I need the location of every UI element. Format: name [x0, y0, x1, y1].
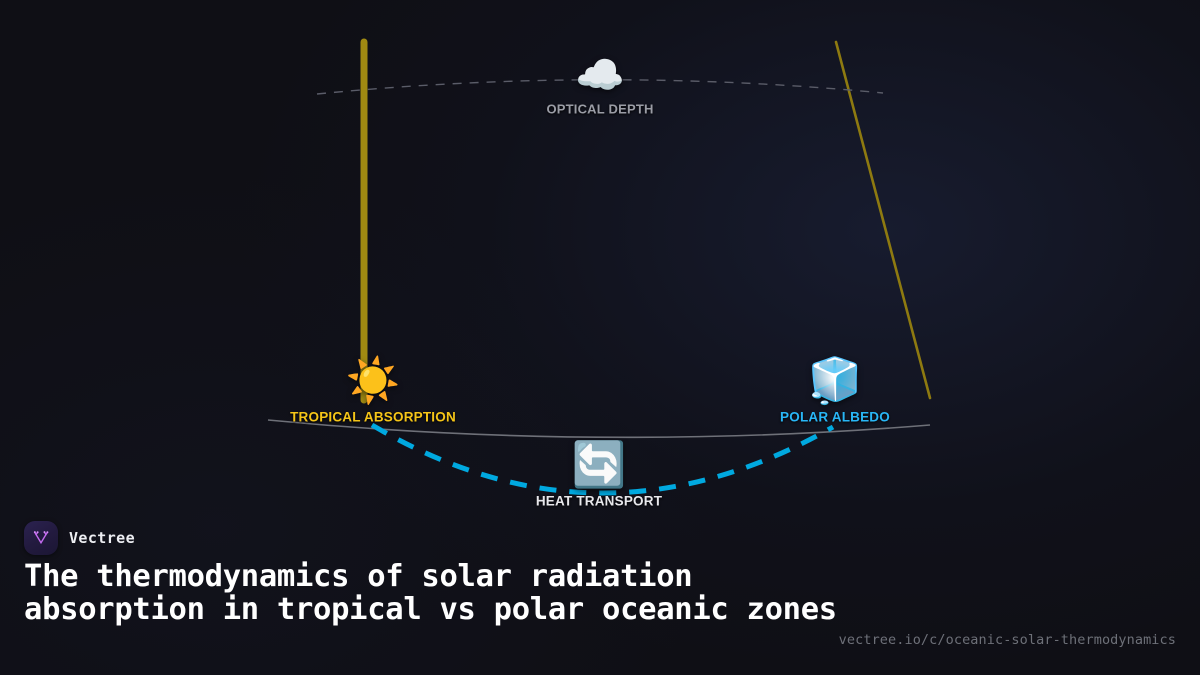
- vectree-glyph: [30, 527, 52, 549]
- screenshot-root: ☁️ OPTICAL DEPTH ☀️ TROPICAL ABSORPTION …: [0, 0, 1200, 675]
- sun-icon: ☀️: [346, 360, 401, 404]
- ice-cube-icon: 🧊: [808, 360, 863, 404]
- brand-name: Vectree: [69, 529, 135, 547]
- page-title: The thermodynamics of solar radiation ab…: [24, 561, 854, 626]
- cloud-icon: ☁️: [575, 56, 625, 96]
- arrows-exchange-icon: 🔄: [572, 444, 627, 488]
- node-heat-transport-label: HEAT TRANSPORT: [536, 494, 662, 509]
- edge-beam-right: [836, 42, 930, 398]
- node-optical-depth-label: OPTICAL DEPTH: [546, 102, 653, 117]
- brand[interactable]: Vectree: [24, 521, 135, 555]
- node-polar-albedo-label: POLAR ALBEDO: [780, 410, 890, 425]
- node-tropical-absorption[interactable]: ☀️ TROPICAL ABSORPTION: [290, 360, 456, 425]
- footer: Vectree The thermodynamics of solar radi…: [0, 515, 1200, 675]
- node-heat-transport[interactable]: 🔄 HEAT TRANSPORT: [536, 444, 662, 509]
- vectree-logo-icon: [24, 521, 58, 555]
- node-polar-albedo[interactable]: 🧊 POLAR ALBEDO: [780, 360, 890, 425]
- node-optical-depth[interactable]: ☁️ OPTICAL DEPTH: [546, 56, 653, 117]
- node-tropical-absorption-label: TROPICAL ABSORPTION: [290, 410, 456, 425]
- permalink: vectree.io/c/oceanic-solar-thermodynamic…: [839, 632, 1176, 648]
